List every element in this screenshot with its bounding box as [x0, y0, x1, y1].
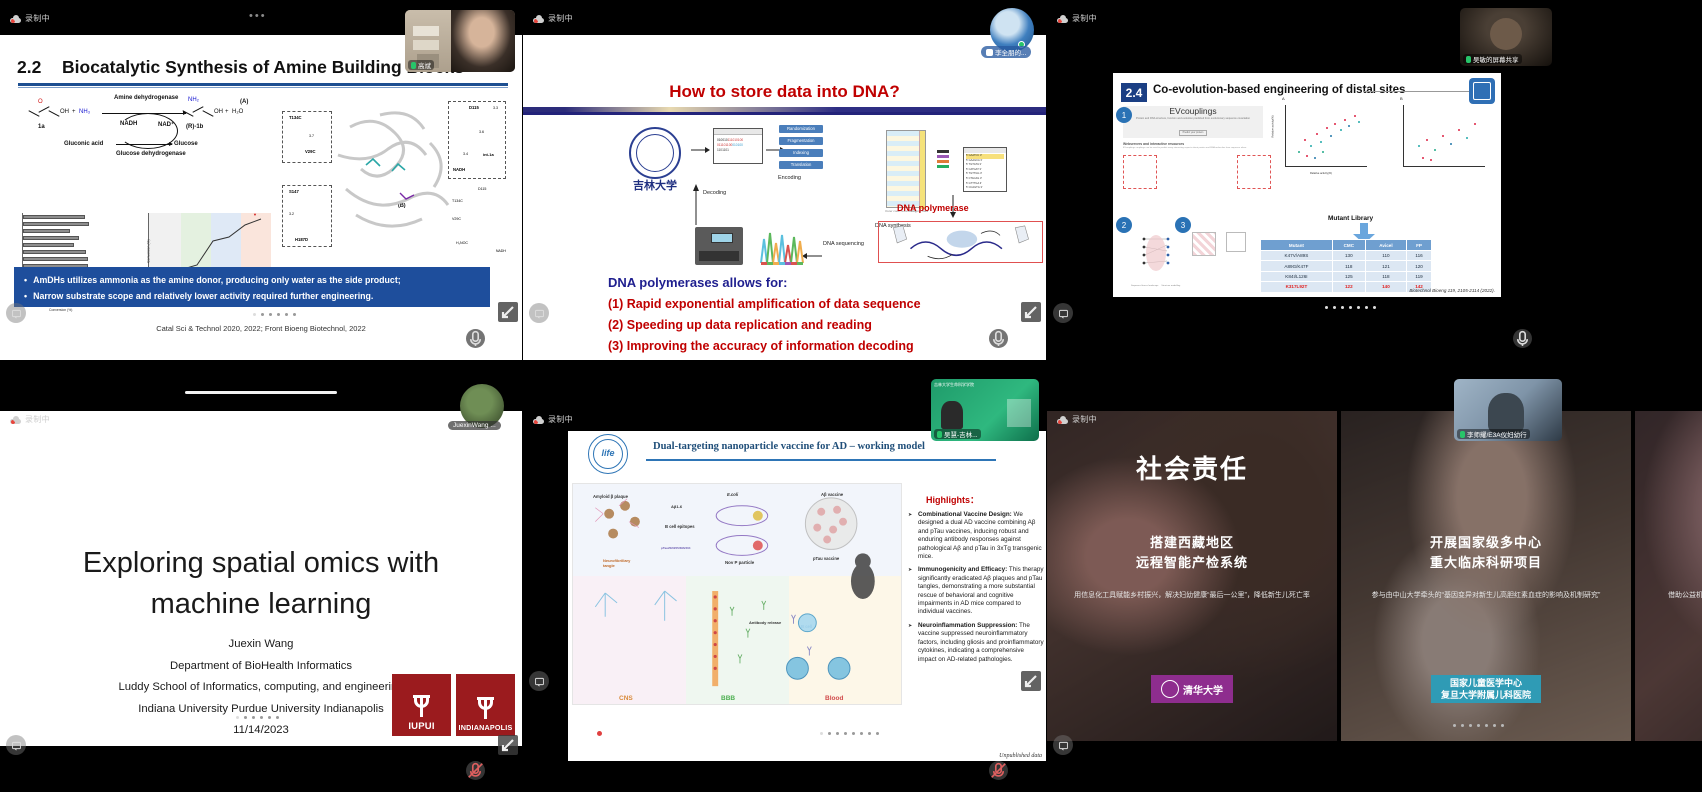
card-body: 借助公益机构向需要的地区捐赠黄疸仪，提升基层黄疸监测服务的普及率: [1647, 589, 1702, 602]
window-drag-handle[interactable]: [185, 391, 337, 394]
polymerase-highlight-box: [878, 221, 1043, 263]
recording-indicator: 录制中: [10, 414, 50, 425]
share-annotate-button[interactable]: [529, 303, 549, 323]
col-cmc: CMC: [1332, 240, 1365, 251]
share-annotate-button[interactable]: [1053, 735, 1073, 755]
video-thumbnail[interactable]: 吴敏的屏幕共享: [1460, 8, 1552, 66]
recording-indicator: 录制中: [1057, 13, 1097, 24]
scheme-water: H₂O: [232, 109, 243, 115]
mic-icon: [1466, 56, 1471, 63]
mic-muted-button[interactable]: [466, 761, 485, 780]
scheme-product-label: (R)-1b: [186, 124, 203, 130]
panel-co-evolution[interactable]: 录制中 2.4 Co-evolution-based engineering o…: [1047, 0, 1702, 360]
table-row: K47V/A89S 130 110 116: [1261, 251, 1432, 261]
slide-dna-storage: How to store data into DNA? 吉林大学 0100101…: [523, 35, 1046, 360]
resource-card-2: [1161, 155, 1195, 189]
card-heading-line2: 重大临床科研项目: [1341, 553, 1631, 573]
participant-name-badge: 李全朋的...: [981, 46, 1031, 58]
video-thumbnail[interactable]: 高斌: [405, 10, 515, 72]
participant-name-badge: 吴慧-吉林...: [934, 429, 981, 439]
recording-label: 录制中: [548, 13, 573, 24]
panel-b-label: B: [1400, 96, 1403, 101]
responsibility-card-2: 开展国家级多中心 重大临床科研项目 参与由中山大学牵头的“基因变异对新生儿高胆红…: [1341, 411, 1631, 741]
slide-citation: Biotechnol Bioeng 119, 2105-2114 (2022).: [1409, 288, 1495, 293]
slide-title: Dual-targeting nanoparticle vaccine for …: [653, 441, 925, 452]
recording-indicator: 录制中: [533, 13, 573, 24]
table-header-row: Mutant CMC Avicel FP: [1261, 240, 1432, 251]
col-avicel: Avicel: [1365, 240, 1406, 251]
axis-y-label: Relative activity(%): [1272, 115, 1275, 137]
share-annotate-button[interactable]: [6, 303, 26, 323]
scatter-plot-b: B: [1403, 105, 1485, 167]
resource-card-4: [1237, 155, 1271, 189]
residue-box-3: D115 3.3 3.6 3.4 int-1a NADH: [448, 101, 506, 179]
chromatogram: [759, 225, 809, 265]
slide-title: How to store data into DNA?: [523, 82, 1046, 102]
slide-title: Co-evolution-based engineering of distal…: [1153, 84, 1405, 96]
author-name: Juexin Wang: [0, 634, 522, 656]
meeting-grid: 录制中 ••• 2.2 Biocatalytic Synthesis of Am…: [0, 0, 1702, 792]
scatter-plot-a: A Relative activity(%) Relative activity…: [1285, 105, 1367, 167]
table-row: A89G/K47F 118 121 120: [1261, 261, 1432, 271]
code-matrix: [886, 130, 926, 208]
participant-name-badge: 高斌: [408, 60, 434, 70]
pipeline-step-3: Translation: [779, 161, 823, 169]
title-line-2: machine learning: [0, 584, 522, 625]
university-seal-icon: [629, 127, 681, 179]
recording-indicator: 录制中: [1057, 414, 1097, 425]
highlight-body: We designed a dual AD vaccine combining …: [918, 511, 1042, 560]
video-thumbnail[interactable]: 吉林大学生命科学学院 吴慧-吉林...: [931, 379, 1039, 441]
step-badge-1: 1: [1116, 107, 1132, 123]
scheme-nad: NAD⁺: [158, 121, 174, 128]
highlight-lead: Immunogenicity and Efficacy:: [918, 566, 1007, 573]
logo-indianapolis-text: INDIANAPOLIS: [456, 723, 515, 732]
table-row-highlight: K317L92T 122 140 142: [1261, 282, 1432, 292]
mutant-library-label: Mutant Library: [1328, 215, 1373, 222]
tsinghua-seal-icon: [1161, 680, 1179, 698]
scheme-glucose: Glucose: [174, 141, 198, 147]
panel-a-label: (A): [240, 99, 248, 105]
recording-label: 录制中: [25, 13, 50, 24]
university-seal-icon: life: [588, 434, 628, 474]
working-model-figure: Amyloid β plaque Neurofibrillary tangle …: [572, 483, 902, 705]
highlight-item: Immunogenicity and Efficacy: This therap…: [908, 566, 1044, 616]
expand-button[interactable]: [498, 735, 518, 755]
card-heading-line2: 远程智能产检系统: [1047, 553, 1337, 573]
tool-button[interactable]: Predict your protein: [1179, 130, 1208, 136]
highlight-lead: Combinational Vaccine Design:: [918, 511, 1012, 518]
tool-name: EVcouplings: [1136, 106, 1250, 116]
mic-muted-button[interactable]: [1513, 329, 1532, 348]
contact-map-diagram: [1188, 228, 1253, 278]
panel-social-responsibility[interactable]: 录制中 社会责任 搭建西藏地区 远程智能产检系统 用信息化工具赋能乡村振兴，解决…: [1047, 371, 1702, 792]
title-rule: [18, 83, 508, 86]
card-heading: 开展国家级多中心 重大临床科研项目: [1341, 533, 1631, 573]
subsection-label: Webservers and interactive resources: [1123, 142, 1184, 146]
card-logo: 国家儿童医学中心 复旦大学附属儿科医院: [1431, 675, 1541, 703]
sequence-list-window: 5' GAATCC 3' 5' GAAGCA 3' 5' TGTGTA 3' 5…: [963, 147, 1007, 192]
highlight-body: This therapy significantly eradicated Aβ…: [918, 566, 1044, 615]
title-rule-thin: [18, 87, 508, 88]
recording-label: 录制中: [1072, 13, 1097, 24]
share-annotate-button[interactable]: [1053, 303, 1073, 323]
section-title: 社会责任: [1047, 449, 1337, 486]
col-mutant: Mutant: [1261, 240, 1333, 251]
slide-citation: Catal Sci & Technol 2020, 2022; Front Bi…: [0, 324, 522, 333]
card-heading-line2: 捐赠与慈善采购: [1635, 553, 1702, 573]
scheme-product-oh: OH: [214, 109, 223, 115]
card-heading-line1: 开展国家级多中心: [1341, 533, 1631, 553]
participant-name-badge: JuexinWang ...: [448, 421, 501, 430]
highlight-item: Neuroinflammation Suppression: The vacci…: [908, 622, 1044, 664]
dna-sequencing-label: DNA sequencing: [823, 241, 864, 247]
slide-biocatalytic: 2.2 Biocatalytic Synthesis of Amine Buil…: [0, 35, 522, 360]
recording-label: 录制中: [548, 414, 573, 425]
dna-polymerase-label: DNA polymerase: [897, 203, 969, 213]
panel-spatial-omics[interactable]: 录制中 Exploring spatial omics with machine…: [0, 371, 522, 792]
card-logo: 清华大学: [1151, 675, 1233, 703]
panel-a-label: A: [1282, 96, 1285, 101]
card-logo-subtext: 复旦大学附属儿科医院: [1441, 689, 1531, 701]
resource-card-3: [1199, 155, 1233, 189]
point-3: (3) Improving the accuracy of informatio…: [608, 339, 914, 353]
encoding-label: Encoding: [778, 175, 801, 181]
resource-card-1: [1123, 155, 1157, 189]
title-rule: [646, 459, 996, 461]
scheme-nadh: NADH: [120, 121, 137, 127]
card-logo-text: 国家儿童医学中心: [1450, 677, 1522, 689]
slide-pager[interactable]: [1453, 724, 1504, 727]
heading-polymerases: DNA polymerases allows for:: [608, 275, 787, 290]
participant-name: JuexinWang ...: [453, 422, 496, 429]
reaction-scheme: O OH + NH₃ 1a Amine dehydrogenase NADH N…: [24, 97, 244, 182]
recording-label: 录制中: [1072, 414, 1097, 425]
video-thumbnail[interactable]: 李师耀/E3A仪妇幼行: [1454, 379, 1562, 441]
expand-button[interactable]: [1021, 302, 1041, 322]
mechanism-diagram: D115 T134C V29C H₂NOC NADH: [452, 185, 506, 257]
participant-name-badge: 吴敏的屏幕共享: [1463, 54, 1522, 64]
participant-name-badge: 李师耀/E3A仪妇幼行: [1457, 429, 1530, 439]
highlights-list: Combinational Vaccine Design: We designe…: [908, 511, 1044, 669]
share-annotate-button[interactable]: [529, 671, 549, 691]
highlights-title: Highlights：: [926, 493, 979, 506]
scheme-gluconic: Gluconic acid: [64, 141, 103, 147]
pipeline-step-2: Indexing: [779, 149, 823, 157]
logo-iupui: IUPUI: [392, 674, 451, 736]
mic-icon: [1460, 431, 1465, 438]
scheme-oh: OH: [60, 109, 69, 115]
recording-label: 录制中: [25, 414, 50, 425]
slide-section-number: 2.4: [1121, 83, 1147, 102]
sequencer-machine-icon: [695, 227, 743, 265]
pipeline-step-0: Randomization: [779, 125, 823, 133]
card-heading: 搭建西藏地区 远程智能产检系统: [1047, 533, 1337, 573]
scheme-enzyme-top: Amine dehydrogenase: [114, 95, 174, 101]
diagram-caption: Sequence fitness landscape Structure mod…: [1131, 285, 1251, 287]
responsibility-card-1: 社会责任 搭建西藏地区 远程智能产检系统 用信息化工具赋能乡村振兴，解决妇幼健康…: [1047, 411, 1337, 741]
slide-title: Biocatalytic Synthesis of Amine Building…: [62, 57, 464, 78]
more-options-icon[interactable]: •••: [249, 10, 267, 22]
slide-section-number: 2.2: [17, 57, 41, 78]
mic-muted-button[interactable]: [989, 329, 1008, 348]
highlight-lead: Neuroinflammation Suppression:: [918, 622, 1017, 629]
card-logo-text: 清华大学: [1183, 682, 1223, 697]
slide-pager[interactable]: [820, 732, 879, 735]
table-row: K84I/L126I 125 118 119: [1261, 271, 1432, 281]
card-heading: 新生儿黄疸仪 捐赠与慈善采购: [1635, 533, 1702, 573]
subsection-desc: EVcouplings couplings can be used to pre…: [1123, 147, 1263, 150]
lab-logo: [1469, 78, 1495, 104]
title-rule: [1363, 91, 1473, 92]
slide-pager[interactable]: [1325, 306, 1376, 309]
residue-box-2: S147 3.2 H187D: [282, 185, 332, 247]
scheme-nh3: NH₃: [79, 109, 90, 115]
protein-structure-figure: T134C 3.7 V29C S147 3.2 H187D D115 3.3 3…: [280, 97, 508, 262]
slide-bullets: •AmDHs utilizes ammonia as the amine don…: [14, 267, 490, 307]
evcouplings-card: EVcouplings Protein and RNA structure, f…: [1123, 106, 1263, 138]
participant-name: 李全朋的...: [995, 47, 1026, 57]
participant-name: 李师耀/E3A仪妇幼行: [1467, 429, 1527, 439]
responsibility-card-3: 新生儿黄疸仪 捐赠与慈善采购 借助公益机构向需要的地区捐赠黄疸仪，提升基层黄疸监…: [1635, 411, 1702, 741]
recording-indicator: 录制中: [10, 13, 50, 24]
footer-note: Unpublished data: [999, 753, 1042, 759]
title-rule-navy: [523, 112, 1046, 115]
mutant-table: Mutant CMC Avicel FP K47V/A89S 130 110 1…: [1260, 239, 1432, 293]
highlight-item: Combinational Vaccine Design: We designe…: [908, 511, 1044, 561]
point-1: (1) Rapid exponential amplification of d…: [608, 297, 921, 311]
recording-indicator: 录制中: [533, 414, 573, 425]
scheme-label-1a: 1a: [38, 124, 45, 130]
participant-name: 吴敏的屏幕共享: [1473, 54, 1519, 64]
expand-button[interactable]: [498, 302, 518, 322]
card-heading-line1: 搭建西藏地区: [1047, 533, 1337, 553]
participant-name: 吴慧-吉林...: [944, 429, 978, 439]
slide-pager[interactable]: [236, 716, 279, 719]
network-diagram: [1127, 231, 1187, 286]
card-heading-line1: 新生儿黄疸仪: [1635, 533, 1702, 553]
logo-iupui-text: IUPUI: [392, 721, 451, 732]
logo-indianapolis: INDIANAPOLIS: [456, 674, 515, 736]
axis-x-label: Relative activity(%): [1310, 172, 1332, 175]
card-body: 参与由中山大学牵头的“基因变异对新生儿高胆红素血症的影响及机制研究”: [1353, 589, 1619, 602]
slide-nanoparticle-vaccine: life Dual-targeting nanoparticle vaccine…: [568, 431, 1046, 761]
university-name: 吉林大学: [623, 177, 687, 193]
share-annotate-button[interactable]: [6, 735, 26, 755]
col-fp: FP: [1407, 240, 1432, 251]
record-dot-indicator: [597, 731, 602, 736]
scheme-nh2: NH₂: [188, 97, 199, 103]
point-2: (2) Speeding up data replication and rea…: [608, 318, 872, 332]
expand-button[interactable]: [1021, 671, 1041, 691]
mic-icon: [411, 62, 416, 69]
slide-pager[interactable]: [253, 313, 296, 316]
panel-dna-storage[interactable]: 录制中 How to store data into DNA? 吉林大学 010…: [523, 0, 1046, 360]
slide-co-evolution: 2.4 Co-evolution-based engineering of di…: [1113, 73, 1501, 297]
color-bars: [937, 150, 949, 170]
card-body: 用信息化工具赋能乡村振兴，解决妇幼健康“最后一公里”，降低新生儿死亡率: [1059, 589, 1325, 602]
panel-biocatalytic[interactable]: 录制中 ••• 2.2 Biocatalytic Synthesis of Am…: [0, 0, 522, 360]
mic-icon: [937, 431, 942, 438]
pipeline-step-1: Fragmentation: [779, 137, 823, 145]
panel-nanoparticle-vaccine[interactable]: 录制中 life Dual-targeting nanoparticle vac…: [523, 371, 1046, 792]
scheme-plus2: +: [225, 109, 229, 115]
slide-title: Exploring spatial omics with machine lea…: [0, 543, 522, 625]
decoding-label: Decoding: [703, 190, 726, 196]
scheme-enzyme-bottom: Glucose dehydrogenase: [116, 151, 176, 157]
participant-name: 高斌: [418, 60, 431, 70]
tool-subtitle: Protein and RNA structure, function and …: [1136, 117, 1250, 120]
binary-data-window: 010010111010100 011101100010100 1101101: [713, 128, 763, 164]
bullet-1: AmDHs utilizes ammonia as the amine dono…: [33, 272, 401, 288]
person-icon: [986, 49, 993, 56]
residue-box-1: T134C 3.7 V29C: [282, 111, 332, 163]
slide-spatial-omics: Exploring spatial omics with machine lea…: [0, 411, 522, 746]
mic-muted-button[interactable]: [466, 329, 485, 348]
slide-social-responsibility: 社会责任 搭建西藏地区 远程智能产检系统 用信息化工具赋能乡村振兴，解决妇幼健康…: [1047, 411, 1702, 741]
bullet-2: Narrow substrate scope and relatively lo…: [33, 288, 373, 304]
mic-muted-button[interactable]: [989, 761, 1008, 780]
title-line-1: Exploring spatial omics with: [0, 543, 522, 584]
scheme-plus: +: [72, 109, 76, 115]
